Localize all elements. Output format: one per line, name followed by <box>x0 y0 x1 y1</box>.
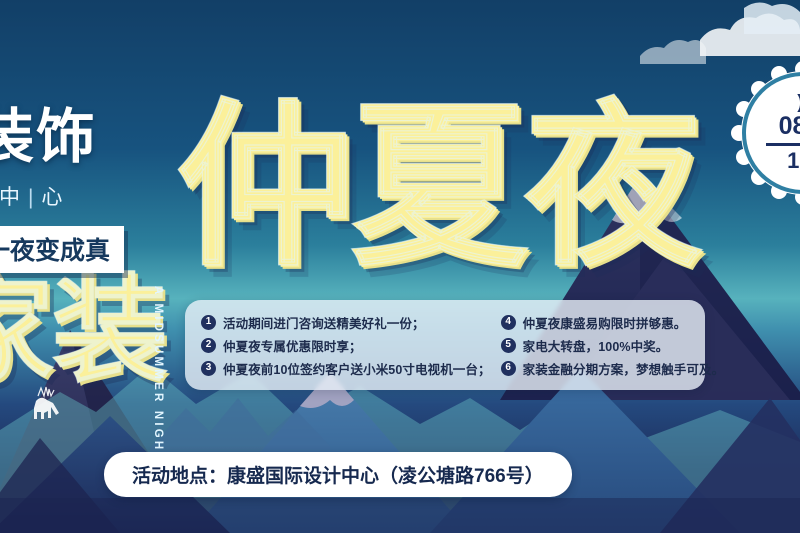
headline-main: 仲夏夜 <box>176 98 698 276</box>
offer-number: 3 <box>201 361 216 376</box>
offer-number: 6 <box>501 361 516 376</box>
offer-text: 活动期间进门咨询送精美好礼一份； <box>223 313 425 332</box>
offer-item: 2 仲夏夜专属优惠限时享； <box>201 336 491 355</box>
date-badge: ), 08/2 18: <box>728 58 800 208</box>
badge-time: 18: <box>787 149 800 173</box>
cloud-cluster <box>640 2 800 64</box>
offer-item: 4 仲夏夜康盛易购限时拼够惠。 <box>501 313 725 332</box>
brand-subtitle-char-4: 心 <box>41 186 65 209</box>
offer-item: 1 活动期间进门咨询送精美好礼一份； <box>201 313 491 332</box>
offer-number: 4 <box>501 315 516 330</box>
offer-text: 仲夏夜康盛易购限时拼够惠。 <box>523 313 687 332</box>
vertical-english-caption: A MIDSUMMER NIGHT <box>152 286 164 463</box>
badge-divider <box>766 143 800 146</box>
subtitle-divider-3: | <box>28 186 36 209</box>
offer-text: 家电大转盘，100%中奖。 <box>523 336 669 355</box>
poster-canvas: 盛装饰 設|計|中|心 装梦 一夜变成真 家装 仲夏夜 A MIDSUMMER … <box>0 0 800 533</box>
offer-text: 仲夏夜专属优惠限时享； <box>223 336 362 355</box>
offer-item: 3 仲夏夜前10位签约客户送小米50寸电视机一台； <box>201 359 491 378</box>
headline-secondary: 家装 <box>0 272 166 388</box>
offers-panel: 1 活动期间进门咨询送精美好礼一份； 2 仲夏夜专属优惠限时享； 3 仲夏夜前1… <box>185 300 705 390</box>
badge-date: 08/2 <box>779 113 800 141</box>
offers-column-right: 4 仲夏夜康盛易购限时拼够惠。 5 家电大转盘，100%中奖。 6 家装金融分期… <box>491 313 725 378</box>
slogan-banner: 装梦 一夜变成真 <box>0 226 124 273</box>
brand-name: 盛装饰 <box>0 108 204 167</box>
offer-item: 6 家装金融分期方案，梦想触手可及。 <box>501 359 725 378</box>
address-pill: 活动地点：康盛国际设计中心（凌公塘路766号） <box>104 452 572 497</box>
offer-item: 5 家电大转盘，100%中奖。 <box>501 336 725 355</box>
offer-text: 仲夏夜前10位签约客户送小米50寸电视机一台； <box>223 359 491 378</box>
brand-logo-block: 盛装饰 設|計|中|心 装梦 一夜变成真 <box>0 108 204 273</box>
offers-column-left: 1 活动期间进门咨询送精美好礼一份； 2 仲夏夜专属优惠限时享； 3 仲夏夜前1… <box>201 313 491 378</box>
brand-subtitle-char-3: 中 <box>0 186 23 209</box>
offer-number: 2 <box>201 338 216 353</box>
offer-number: 1 <box>201 315 216 330</box>
offer-number: 5 <box>501 338 516 353</box>
brand-subtitle: 設|計|中|心 <box>0 181 204 211</box>
offer-text: 家装金融分期方案，梦想触手可及。 <box>523 359 725 378</box>
bottom-haze <box>0 498 800 533</box>
